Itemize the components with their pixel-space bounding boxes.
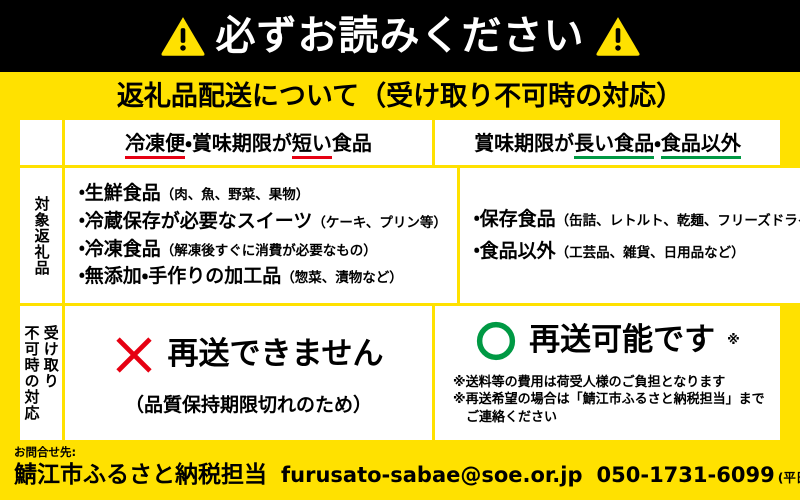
- target-items-right-cell: ・保存食品（缶詰、レトルト、乾麺、フリーズドライ） ・食品以外（工芸品、雑貨、日…: [460, 168, 800, 303]
- table-header-row: 冷凍便・賞味期限が短い食品 賞味期限が長い食品・食品以外: [20, 120, 780, 165]
- action-right-cell: 再送可能です※ ※送料等の費用は荷受人様のご負担となります ※再送希望の場合は「…: [435, 306, 780, 440]
- footer-contact: お問合せ先: 鯖江市ふるさと納税担当 furusato-sabae@soe.or…: [0, 440, 800, 500]
- table-row-action: 受け取り 不可時の対応 再送できません （品質保持期限切れのため）: [20, 306, 780, 440]
- row-label-target-items-text: 対象返礼品: [31, 196, 50, 276]
- list-item-sub: （缶詰、レトルト、乾麺、フリーズドライ）: [556, 213, 800, 229]
- colhead-left-part-3: 食品: [332, 131, 372, 155]
- action-no-resend-title: 再送できません: [167, 339, 383, 370]
- row-label-action-columns: 受け取り 不可時の対応: [22, 325, 60, 421]
- list-item-sub: （解凍後すぐに消費が必要なもの）: [161, 243, 377, 259]
- list-item-main: 冷凍食品: [85, 238, 161, 260]
- footer-department: 鯖江市ふるさと納税担当: [14, 463, 267, 487]
- action-left-cell: 再送できません （品質保持期限切れのため）: [65, 306, 432, 440]
- colhead-left-part-2: 短い: [292, 131, 332, 159]
- row-label-action-text-a: 受け取り: [42, 325, 60, 389]
- action-no-resend: 再送できません （品質保持期限切れのため）: [65, 306, 432, 440]
- list-item: ・生鮮食品（肉、魚、野菜、果物）: [79, 184, 447, 204]
- column-header-right-text: 賞味期限が長い食品・食品以外: [474, 133, 741, 153]
- footer-business-hours: (平日10:00-17:00対応): [778, 471, 800, 484]
- table-row-target-items: 対象返礼品 ・生鮮食品（肉、魚、野菜、果物） ・冷蔵保存が必要なスイーツ（ケーキ…: [20, 168, 780, 303]
- list-item-main: 保存食品: [480, 208, 556, 230]
- list-item-sub: （惣菜、漬物など）: [281, 270, 403, 286]
- colhead-left-part-0: 冷凍便: [125, 131, 185, 159]
- list-item: ・冷蔵保存が必要なスイーツ（ケーキ、プリン等）: [79, 212, 447, 232]
- row-label-action-text-b: 不可時の対応: [22, 325, 40, 421]
- action-no-resend-head: 再送できません: [113, 334, 383, 376]
- circle-mark-icon: [475, 320, 517, 362]
- subtitle-text: 返礼品配送について（受け取り不可時の対応）: [117, 83, 683, 110]
- x-mark-icon: [113, 334, 155, 376]
- footer-telephone[interactable]: 050-1731-6099: [597, 464, 775, 486]
- target-items-right-list: ・保存食品（缶詰、レトルト、乾麺、フリーズドライ） ・食品以外（工芸品、雑貨、日…: [460, 168, 800, 303]
- target-items-left-list: ・生鮮食品（肉、魚、野菜、果物） ・冷蔵保存が必要なスイーツ（ケーキ、プリン等）…: [65, 168, 457, 303]
- row-label-action: 受け取り 不可時の対応: [20, 306, 62, 440]
- list-item-main: 冷蔵保存が必要なスイーツ: [85, 210, 313, 232]
- list-item: ・冷凍食品（解凍後すぐに消費が必要なもの）: [79, 240, 447, 260]
- action-resend-ok-asterisk: ※: [727, 334, 740, 347]
- action-resend-ok: 再送可能です※ ※送料等の費用は荷受人様のご負担となります ※再送希望の場合は「…: [435, 306, 780, 440]
- subtitle-banner: 返礼品配送について（受け取り不可時の対応）: [0, 72, 800, 120]
- table-corner-cell: [20, 120, 62, 165]
- list-item-main: 食品以外: [480, 240, 556, 262]
- list-item-sub: （ケーキ、プリン等）: [312, 215, 446, 231]
- warning-triangle-icon: [160, 13, 206, 59]
- action-resend-ok-title: 再送可能です: [529, 325, 715, 356]
- poster-root: 必ずお読みください 返礼品配送について（受け取り不可時の対応） 冷凍便・賞味期限…: [0, 0, 800, 500]
- list-item-main: 無添加・手作りの加工品: [85, 265, 281, 287]
- footer-contact-row: 鯖江市ふるさと納税担当 furusato-sabae@soe.or.jp 050…: [14, 463, 800, 487]
- list-item-main: 生鮮食品: [85, 182, 161, 204]
- action-resend-ok-notes: ※送料等の費用は荷受人様のご負担となります ※再送希望の場合は「鯖江市ふるさと納…: [435, 374, 765, 427]
- note-line: ご連絡ください: [453, 409, 765, 427]
- list-item: ・無添加・手作りの加工品（惣菜、漬物など）: [79, 267, 447, 287]
- colhead-right-part-2: ・: [654, 131, 661, 155]
- row-label-target-items: 対象返礼品: [20, 168, 62, 303]
- note-line: ※再送希望の場合は「鯖江市ふるさと納税担当」まで: [453, 391, 765, 409]
- page-title: 必ずお読みください: [216, 16, 585, 56]
- colhead-right-part-0: 賞味期限が: [474, 131, 574, 155]
- note-line: ※送料等の費用は荷受人様のご負担となります: [453, 374, 765, 392]
- column-header-right: 賞味期限が長い食品・食品以外: [435, 120, 780, 165]
- list-item: ・食品以外（工芸品、雑貨、日用品など）: [474, 242, 795, 262]
- list-item-sub: （肉、魚、野菜、果物）: [161, 187, 310, 203]
- action-resend-ok-head: 再送可能です※: [475, 320, 740, 362]
- column-header-left-text: 冷凍便・賞味期限が短い食品: [125, 133, 372, 153]
- column-header-left: 冷凍便・賞味期限が短い食品: [65, 120, 432, 165]
- list-item: ・保存食品（缶詰、レトルト、乾麺、フリーズドライ）: [474, 210, 795, 230]
- colhead-right-part-1: 長い食品: [574, 131, 654, 159]
- info-table: 冷凍便・賞味期限が短い食品 賞味期限が長い食品・食品以外 対象返礼品: [20, 120, 780, 437]
- footer-email[interactable]: furusato-sabae@soe.or.jp: [281, 464, 583, 486]
- footer-contact-label: お問合せ先:: [14, 446, 800, 460]
- colhead-left-part-1: ・賞味期限が: [185, 131, 292, 155]
- list-item-sub: （工芸品、雑貨、日用品など）: [556, 245, 745, 261]
- target-items-left-cell: ・生鮮食品（肉、魚、野菜、果物） ・冷蔵保存が必要なスイーツ（ケーキ、プリン等）…: [65, 168, 457, 303]
- warning-triangle-icon: [595, 13, 641, 59]
- colhead-right-part-3: 食品以外: [661, 131, 741, 159]
- header-banner: 必ずお読みください: [0, 0, 800, 72]
- action-no-resend-subtitle: （品質保持期限切れのため）: [125, 390, 372, 417]
